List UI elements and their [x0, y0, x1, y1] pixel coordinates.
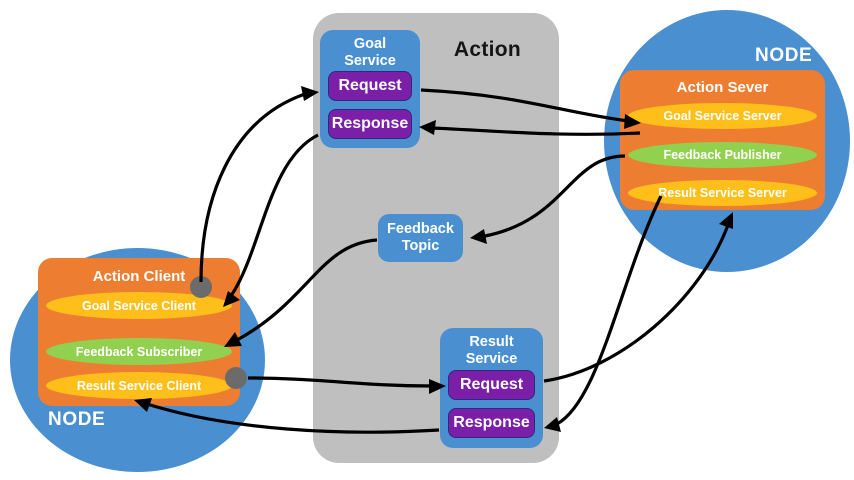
feedback-topic-title-line2: Topic: [402, 238, 440, 254]
result-service-client-ellipse[interactable]: Result Service Client: [46, 372, 232, 399]
feedback-topic-title-line1: Feedback: [387, 221, 454, 237]
feedback-topic-title: Feedback Topic: [378, 221, 463, 255]
feedback-subscriber-ellipse[interactable]: Feedback Subscriber: [46, 338, 232, 365]
action-container-label: Action: [425, 38, 550, 62]
result-service-server-ellipse[interactable]: Result Service Server: [628, 180, 817, 206]
goal-service-server-ellipse[interactable]: Goal Service Server: [628, 103, 817, 129]
feedback-topic-box: Feedback Topic: [378, 214, 463, 262]
feedback-publisher-ellipse[interactable]: Feedback Publisher: [628, 142, 817, 168]
result-service-response-pill[interactable]: Response: [448, 408, 535, 438]
goal-service-response-pill[interactable]: Response: [328, 109, 412, 139]
result-service-box: Result Service Request Response: [440, 328, 543, 448]
result-service-request-pill[interactable]: Request: [448, 370, 535, 400]
diagram-canvas: Action Goal Service Request Response Fee…: [0, 0, 854, 480]
goal-service-box: Goal Service Request Response: [320, 30, 420, 148]
goal-service-title-line2: Service: [344, 53, 396, 69]
server-node-label: NODE: [755, 45, 812, 67]
result-service-title: Result Service: [440, 334, 543, 368]
goal-service-request-pill[interactable]: Request: [328, 71, 412, 101]
arrow-client-goal-to-request: [201, 86, 319, 282]
result-client-connector-dot: [225, 367, 247, 389]
action-server-box: Action Sever Goal Service Server Feedbac…: [620, 70, 825, 210]
goal-client-connector-dot: [190, 276, 212, 298]
result-service-title-line2: Service: [466, 351, 518, 367]
action-server-title: Action Sever: [620, 79, 825, 96]
goal-service-title: Goal Service: [320, 36, 420, 70]
goal-service-title-line1: Goal: [354, 36, 386, 52]
result-service-title-line1: Result: [469, 334, 513, 350]
client-node-label: NODE: [48, 409, 105, 431]
